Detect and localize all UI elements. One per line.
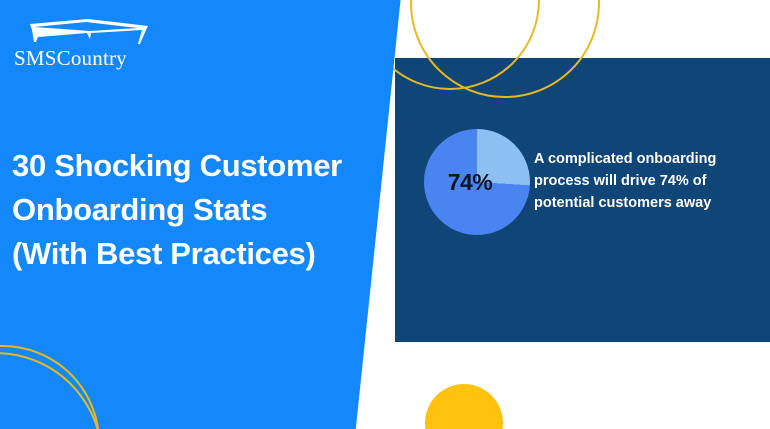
brand-logo[interactable]: SMSCountry bbox=[10, 18, 170, 74]
paper-plane-icon bbox=[28, 18, 150, 48]
page-title: 30 Shocking Customer Onboarding Stats (W… bbox=[12, 144, 412, 276]
pie-chart-value-label: 74% bbox=[424, 129, 530, 235]
stat-description: A complicated onboarding process will dr… bbox=[534, 148, 760, 214]
page-title-line-3: (With Best Practices) bbox=[12, 232, 412, 276]
page-title-line-2: Onboarding Stats bbox=[12, 188, 412, 232]
stat-description-line-3: potential customers away bbox=[534, 192, 760, 214]
page-title-line-1: 30 Shocking Customer bbox=[12, 144, 412, 188]
banner-canvas: SMSCountry 30 Shocking Customer Onboardi… bbox=[0, 0, 770, 429]
brand-name: SMSCountry bbox=[14, 46, 127, 71]
stat-description-line-2: process will drive 74% of bbox=[534, 170, 760, 192]
pie-chart: 74% bbox=[424, 129, 530, 235]
stat-description-line-1: A complicated onboarding bbox=[534, 148, 760, 170]
decorative-yellow-circle-icon bbox=[425, 384, 503, 429]
